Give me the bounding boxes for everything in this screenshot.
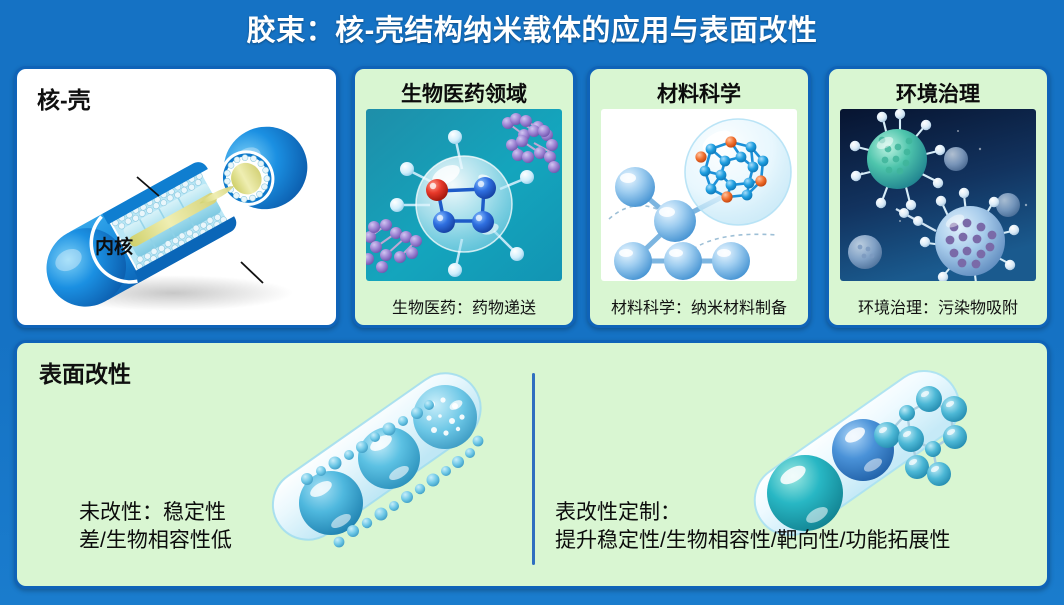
environment-illustration — [840, 109, 1036, 281]
unmodified-description: 未改性：稳定性 差/生物相容性低 — [79, 499, 232, 556]
panel-title-environment: 环境治理 — [829, 78, 1047, 108]
surface-modification-title: 表面改性 — [39, 355, 131, 389]
core-shell-panel: 核-壳 — [14, 66, 339, 328]
panel-title-biomedicine: 生物医药领域 — [355, 78, 573, 108]
inner-core-label: 内核 — [95, 232, 133, 259]
application-panel-biomedicine[interactable]: 生物医药领域 — [352, 66, 576, 328]
surface-panel-divider — [532, 373, 535, 565]
modified-description: 表改性定制： 提升稳定性/生物相容性/靶向性/功能拓展性 — [555, 499, 951, 556]
infographic-root: 胶束：核-壳结构纳米载体的应用与表面改性 核-壳 — [0, 0, 1064, 605]
panel-caption-biomedicine: 生物医药：药物递送 — [355, 294, 573, 318]
application-panel-environment[interactable]: 环境治理 — [826, 66, 1050, 328]
core-shell-illustration: 内核 外壳 — [25, 107, 330, 322]
materials-science-illustration — [601, 109, 797, 281]
panel-caption-environment: 环境治理：污染物吸附 — [829, 294, 1047, 318]
biomedicine-illustration — [366, 109, 562, 281]
panel-title-materials-science: 材料科学 — [590, 78, 808, 108]
page-title: 胶束：核-壳结构纳米载体的应用与表面改性 — [247, 7, 818, 49]
page-title-bar: 胶束：核-壳结构纳米载体的应用与表面改性 — [0, 0, 1064, 56]
panel-caption-materials-science: 材料科学：纳米材料制备 — [590, 294, 808, 318]
surface-modification-panel: 表面改性 — [14, 340, 1050, 589]
unmodified-micelle-illustration — [229, 361, 519, 551]
application-panel-materials-science[interactable]: 材料科学 — [587, 66, 811, 328]
